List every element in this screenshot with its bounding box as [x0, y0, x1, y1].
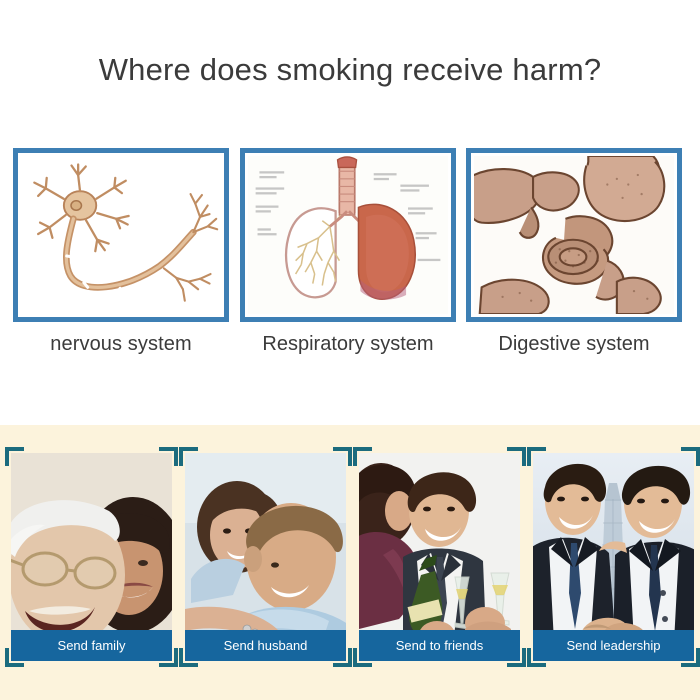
- corner-bracket-top-right: [159, 447, 178, 466]
- lungs-icon: [248, 156, 448, 314]
- organ-card-nervous-system[interactable]: nervous system: [13, 148, 229, 356]
- organ-frame: [240, 148, 456, 322]
- digestive-organs-illustration: [474, 156, 674, 314]
- corner-bracket-top-left: [179, 447, 198, 466]
- send-leadership-button[interactable]: Send leadership: [533, 630, 694, 661]
- neuron-illustration: [21, 156, 221, 314]
- organ-frame: [13, 148, 229, 322]
- corner-bracket-top-left: [5, 447, 24, 466]
- send-family-button[interactable]: Send family: [11, 630, 172, 661]
- gift-card-send-leadership[interactable]: Send leadership: [533, 453, 694, 661]
- page-title: Where does smoking receive harm?: [0, 52, 700, 88]
- organ-frame: [466, 148, 682, 322]
- organ-caption: Respiratory system: [240, 333, 456, 356]
- lungs-illustration: [248, 156, 448, 314]
- corner-bracket-top-right: [333, 447, 352, 466]
- organ-caption: Digestive system: [466, 333, 682, 356]
- organ-card-respiratory-system[interactable]: Respiratory system: [240, 148, 456, 356]
- gift-card-send-husband[interactable]: Send husband: [185, 453, 346, 661]
- organ-card-digestive-system[interactable]: Digestive system: [466, 148, 682, 356]
- corner-bracket-top-left: [527, 447, 546, 466]
- send-to-friends-button[interactable]: Send to friends: [359, 630, 520, 661]
- corner-bracket-top-right: [507, 447, 526, 466]
- send-husband-button[interactable]: Send husband: [185, 630, 346, 661]
- neuron-icon: [21, 156, 221, 314]
- gift-section: Send family: [0, 425, 700, 700]
- organ-section: nervous system: [0, 148, 700, 363]
- organ-caption: nervous system: [13, 333, 229, 356]
- corner-bracket-top-right: [681, 447, 700, 466]
- corner-bracket-top-left: [353, 447, 372, 466]
- digestive-organs-icon: [474, 156, 674, 314]
- gift-card-send-family[interactable]: Send family: [11, 453, 172, 661]
- gift-card-send-to-friends[interactable]: Send to friends: [359, 453, 520, 661]
